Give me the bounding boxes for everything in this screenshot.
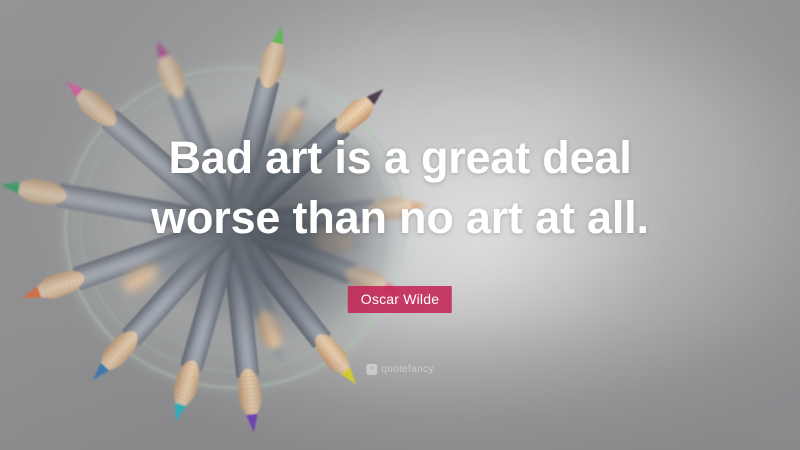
quote-mark-icon: “ <box>366 364 377 375</box>
quotefancy-watermark[interactable]: “ quotefancy <box>366 364 433 375</box>
quote-line-1: Bad art is a great deal <box>60 128 740 188</box>
watermark-label: quotefancy <box>381 364 433 375</box>
author-badge[interactable]: Oscar Wilde <box>348 286 452 313</box>
quote-image-canvas: Bad art is a great deal worse than no ar… <box>0 0 800 450</box>
author-name: Oscar Wilde <box>361 291 439 307</box>
quote-line-2: worse than no art at all. <box>60 188 740 248</box>
quote-text: Bad art is a great deal worse than no ar… <box>0 128 800 248</box>
